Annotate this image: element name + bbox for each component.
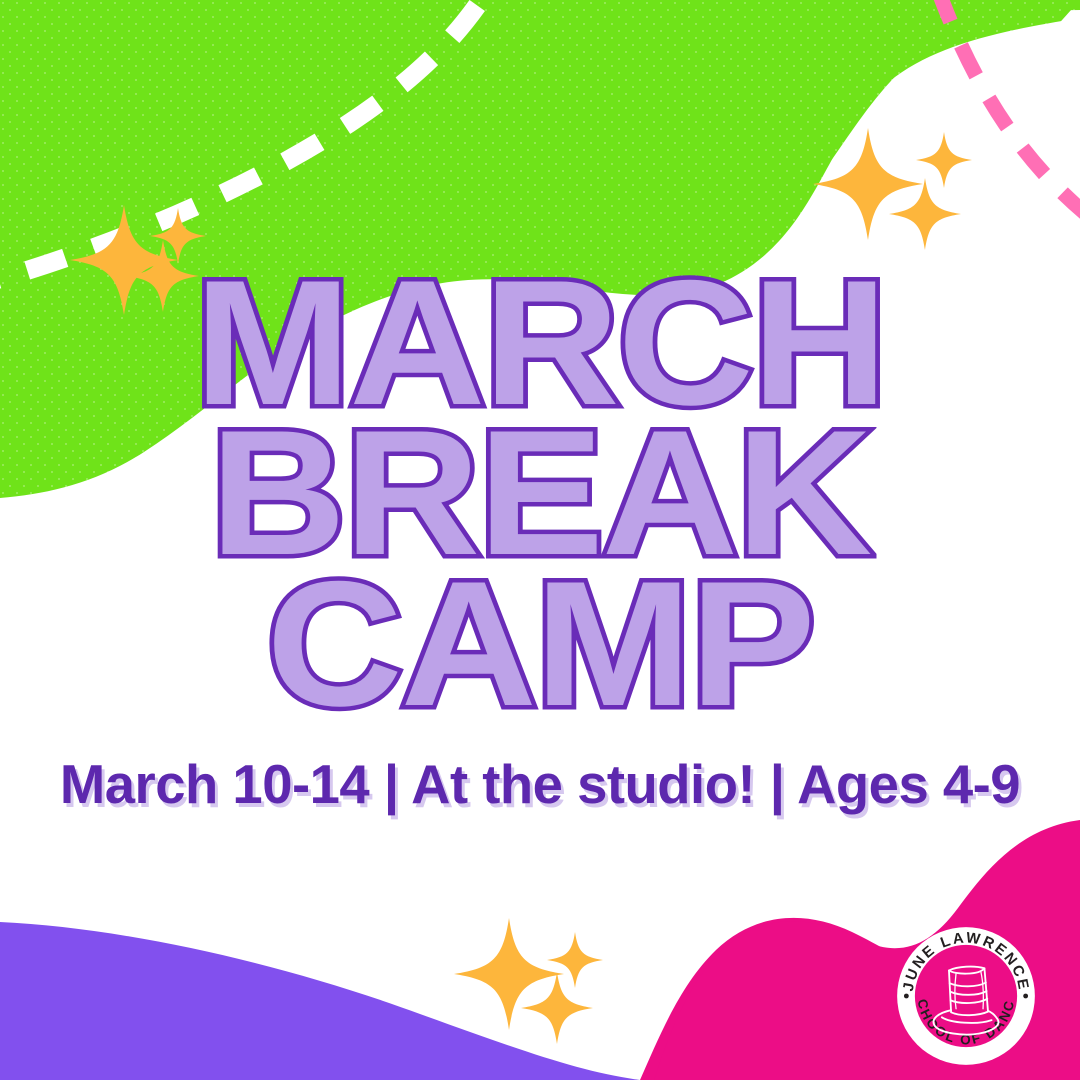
sparkle-star (454, 918, 564, 1030)
purple-blob-bottom-left (0, 922, 640, 1080)
pink-dashed-curve (938, 0, 1080, 214)
sparkle-star (521, 972, 593, 1044)
sparkle-star (547, 932, 603, 988)
subtitle-details: March 10-14 | At the studio! | Ages 4-9 (5, 757, 1074, 812)
logo-june-lawrence-school-of-dance: JUNE LAWRENCE SCHOOL OF DANCE (895, 925, 1037, 1067)
sparkle-star (813, 128, 923, 240)
logo-dot-left (904, 994, 909, 999)
sparkle-cluster-bottom-center (454, 918, 603, 1044)
sparkle-star (916, 132, 972, 188)
logo-dot-right (1023, 994, 1028, 999)
headline-line-3: CAMP (0, 569, 1080, 719)
sparkle-cluster-top-right (813, 128, 972, 250)
poster-canvas: MARCH BREAK CAMP March 10-14 | At the st… (0, 0, 1080, 1080)
headline: MARCH BREAK CAMP (0, 268, 1080, 719)
sparkle-star (889, 178, 961, 250)
